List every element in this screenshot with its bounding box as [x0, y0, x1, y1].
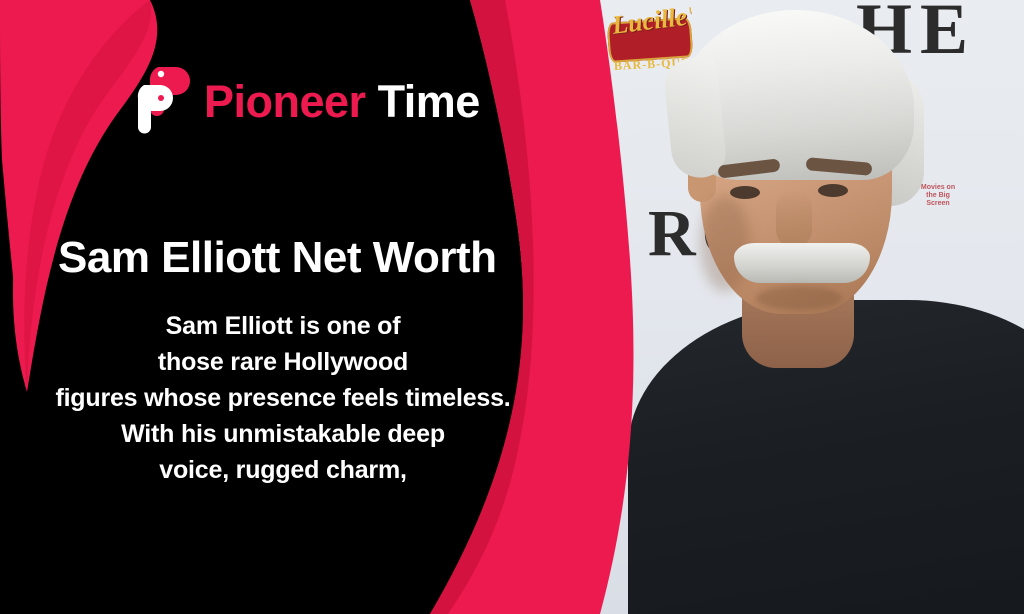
text-content: Pioneer Time Sam Elliott Net Worth Sam E…: [0, 0, 600, 614]
blurb-line: figures whose presence feels timeless.: [0, 380, 566, 416]
brand-lockup[interactable]: Pioneer Time: [136, 56, 480, 146]
subject-eye-left: [730, 186, 760, 199]
subject-moustache: [734, 243, 870, 283]
subject-chin-shadow: [756, 286, 842, 310]
brand-name: Pioneer Time: [204, 79, 480, 124]
article-blurb: Sam Elliott is one of those rare Hollywo…: [0, 308, 566, 488]
page-title: Sam Elliott Net Worth: [0, 233, 600, 283]
blurb-line: With his unmistakable deep: [0, 416, 566, 452]
brand-name-accent: Pioneer: [204, 76, 366, 127]
blurb-line: those rare Hollywood: [0, 344, 566, 380]
subject-cheek-shadow: [700, 196, 750, 292]
brand-name-plain: Time: [366, 76, 480, 127]
subject-nose: [776, 190, 812, 248]
subject-eye-right: [818, 184, 848, 197]
double-p-logo-icon: [136, 63, 200, 139]
blurb-line: voice, rugged charm,: [0, 452, 566, 488]
blurb-line: Sam Elliott is one of: [0, 308, 566, 344]
article-thumbnail: HE RO Movies on the Big Screen AMERIC CI…: [0, 0, 1024, 614]
